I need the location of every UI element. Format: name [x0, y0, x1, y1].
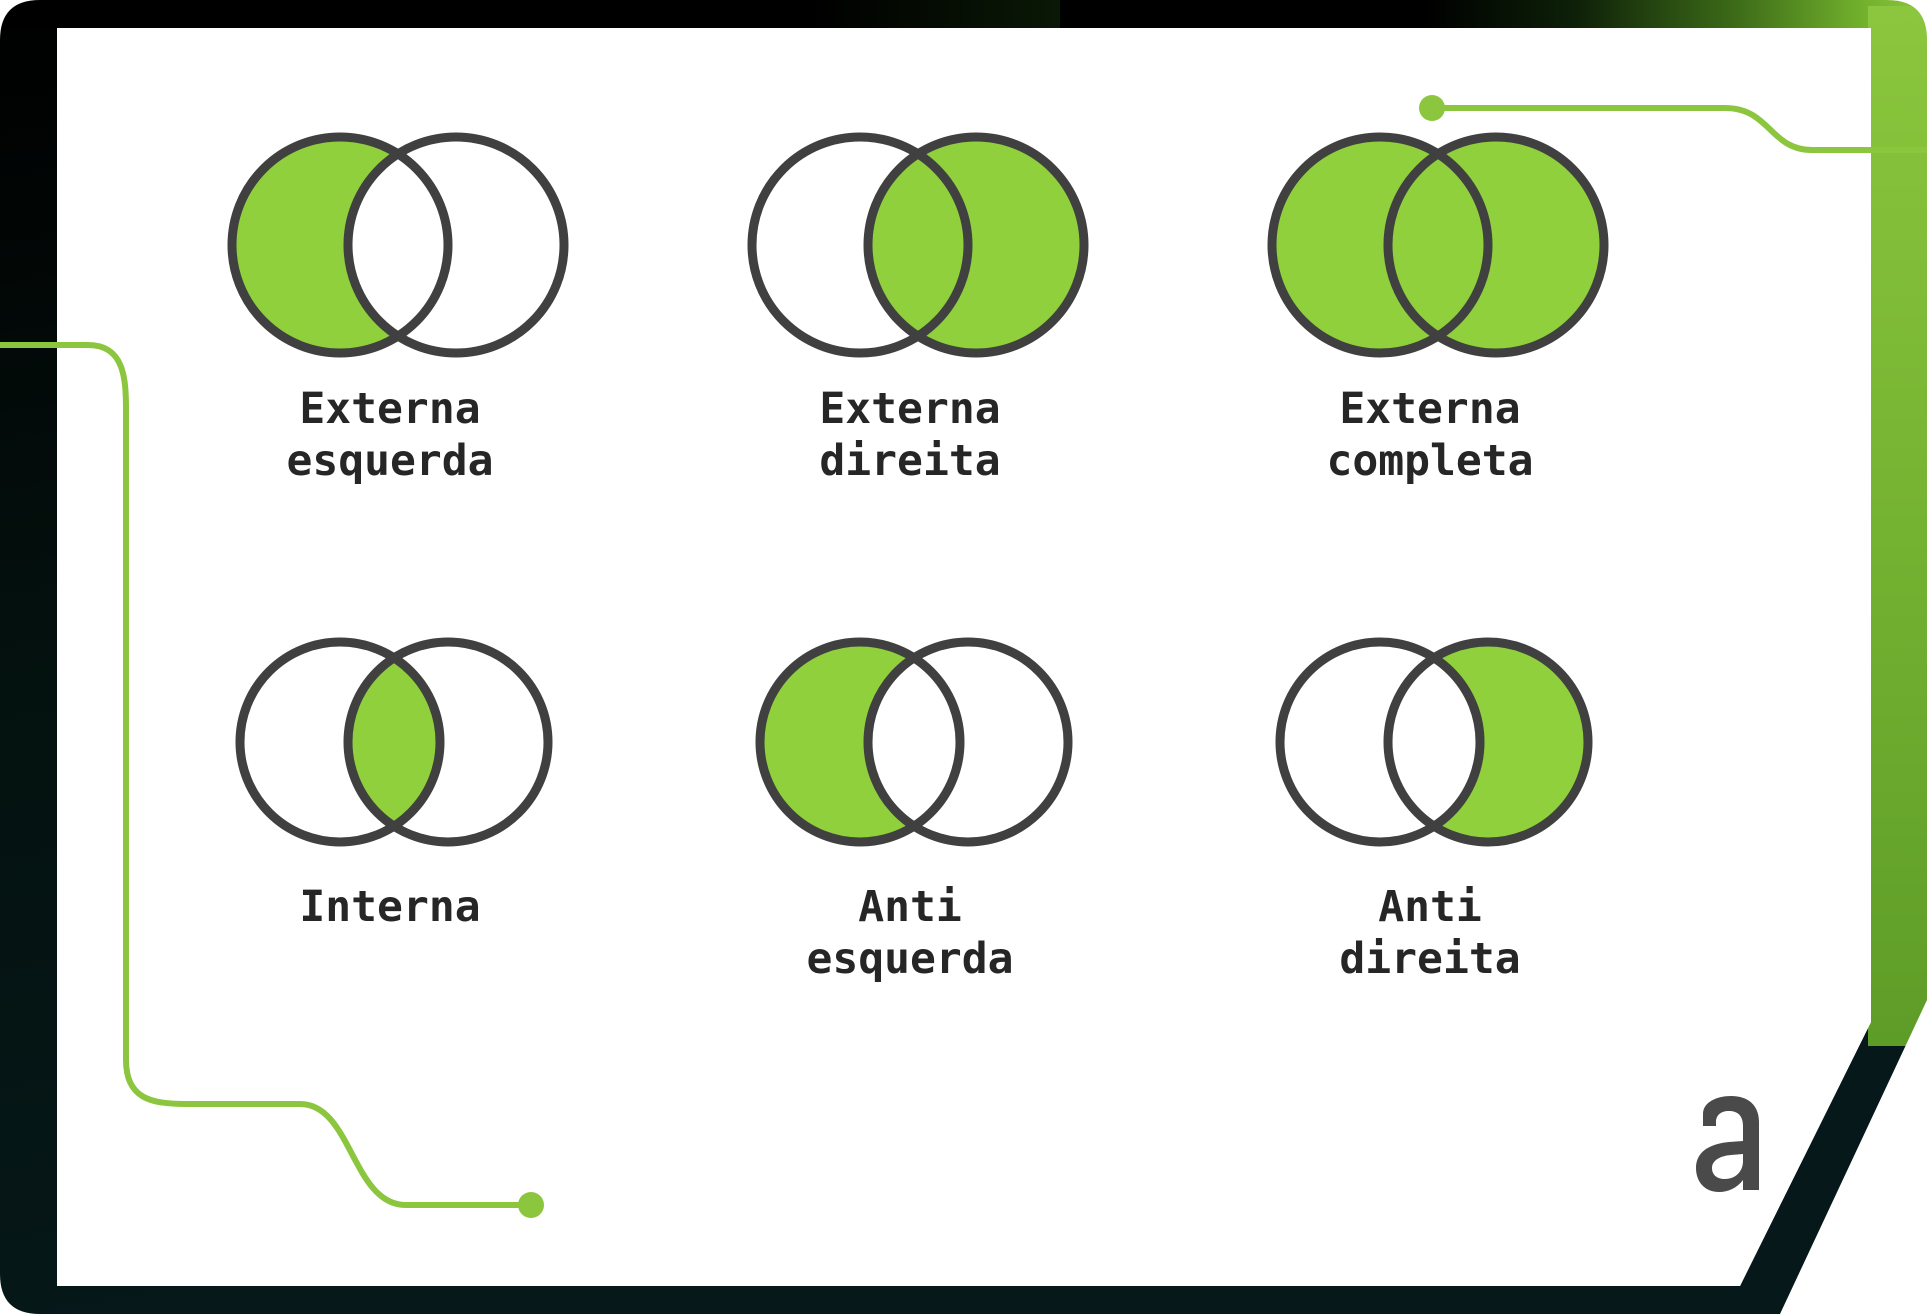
caption-line-1: Externa	[819, 384, 1000, 434]
caption-line-1: Externa	[1339, 384, 1520, 434]
venn-externa-completa	[1220, 120, 1640, 370]
caption-line-2: esquerda	[806, 934, 1013, 984]
caption-line-2: completa	[1326, 436, 1533, 486]
caption-line-1: Externa	[299, 384, 480, 434]
venn-caption: Interna	[299, 882, 480, 934]
venn-externa-direita	[700, 120, 1120, 370]
venn-anti-direita	[1220, 625, 1640, 860]
venn-cell-externa-completa[interactable]: Externacompleta	[1170, 120, 1690, 625]
caption-line-2: direita	[819, 436, 1000, 486]
venn-cell-externa-esquerda[interactable]: Externaesquerda	[130, 120, 650, 625]
caption-line-2: esquerda	[286, 436, 493, 486]
caption-line-1: Anti	[1378, 882, 1482, 932]
venn-caption: Antidireita	[1339, 882, 1520, 985]
venn-caption: Externadireita	[819, 384, 1000, 487]
alura-logo	[1693, 1086, 1767, 1196]
venn-cell-externa-direita[interactable]: Externadireita	[650, 120, 1170, 625]
venn-cell-interna[interactable]: Interna	[130, 625, 650, 1130]
venn-externa-esquerda	[180, 120, 600, 370]
caption-line-2: direita	[1339, 934, 1520, 984]
venn-caption: Externacompleta	[1326, 384, 1533, 487]
caption-line-1: Anti	[858, 882, 962, 932]
venn-cell-anti-direita[interactable]: Antidireita	[1170, 625, 1690, 1130]
slide-root: Externaesquerda Externadireita Externaco…	[0, 0, 1927, 1314]
logo-glyph-a	[1696, 1096, 1759, 1192]
caption-line-1: Interna	[299, 882, 480, 932]
venn-caption: Externaesquerda	[286, 384, 493, 487]
venn-interna	[180, 625, 600, 860]
venn-cell-anti-esquerda[interactable]: Antiesquerda	[650, 625, 1170, 1130]
venn-anti-esquerda	[700, 625, 1120, 860]
venn-caption: Antiesquerda	[806, 882, 1013, 985]
venn-grid: Externaesquerda Externadireita Externaco…	[130, 120, 1690, 1130]
